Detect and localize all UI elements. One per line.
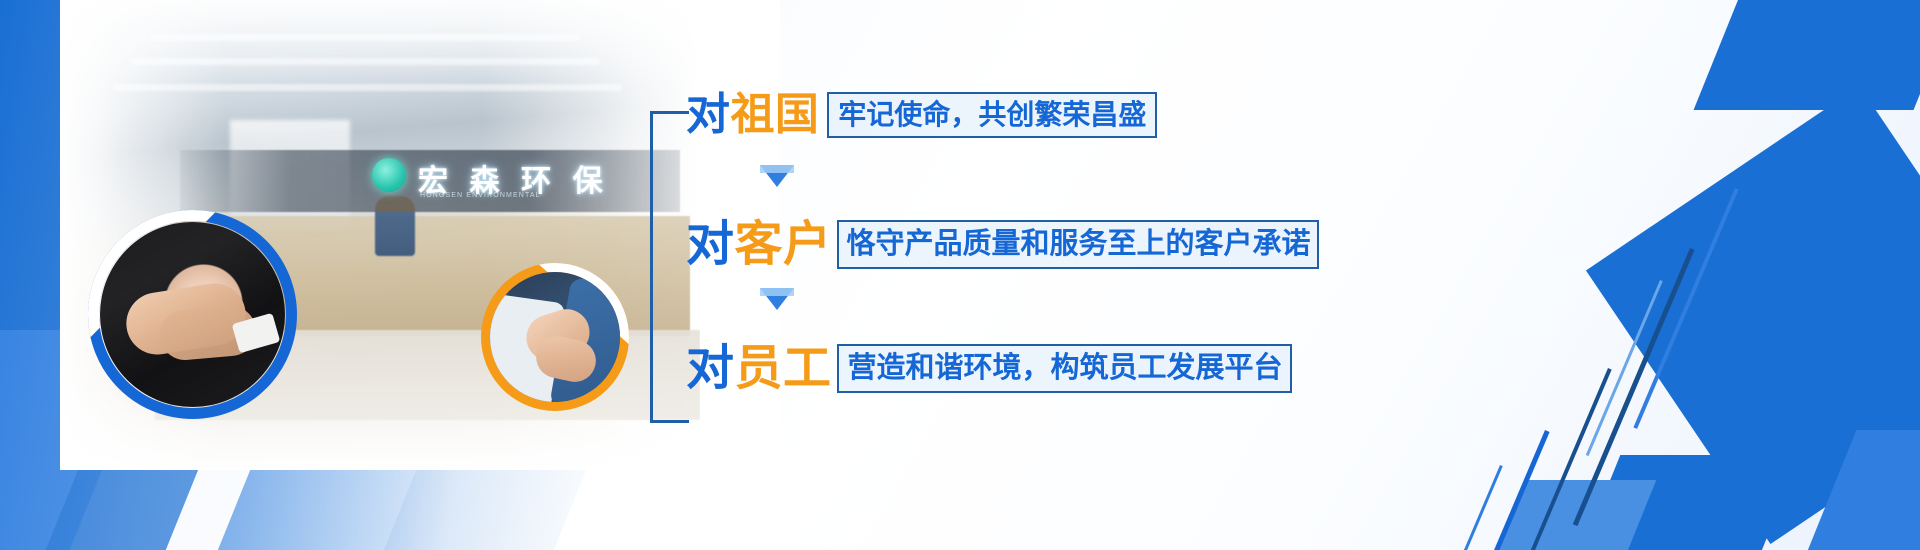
value-prefix-3: 对 xyxy=(686,342,734,395)
value-label-2: 对客户 xyxy=(686,221,831,269)
value-highlight-2: 客户 xyxy=(734,218,831,271)
value-statement-box-1: 牢记使命，共创繁荣昌盛 xyxy=(827,92,1157,138)
value-row-1: 对祖国 牢记使命，共创繁荣昌盛 xyxy=(686,92,1157,138)
applause-photo xyxy=(490,272,620,402)
value-prefix-2: 对 xyxy=(686,218,734,271)
value-statement-2: 恪守产品质量和服务至上的客户承诺 xyxy=(846,230,1310,259)
value-label-3: 对员工 xyxy=(686,345,831,393)
value-statement-3: 营造和谐环境，构筑员工发展平台 xyxy=(847,354,1282,383)
decor-parallelogram-right-2 xyxy=(1694,0,1920,110)
values-list: 对祖国 牢记使命，共创繁荣昌盛 对客户 恪守产品质量和服务至上的客户承诺 对员工… xyxy=(650,80,1350,470)
globe-leaf-icon xyxy=(372,158,406,192)
value-row-2: 对客户 恪守产品质量和服务至上的客户承诺 xyxy=(686,220,1319,269)
value-row-3: 对员工 营造和谐环境，构筑员工发展平台 xyxy=(686,344,1292,393)
value-statement-box-2: 恪守产品质量和服务至上的客户承诺 xyxy=(837,220,1319,269)
down-arrow-1 xyxy=(760,165,794,187)
value-highlight-3: 员工 xyxy=(734,342,831,395)
value-label-1: 对祖国 xyxy=(686,93,819,137)
value-highlight-1: 祖国 xyxy=(730,90,819,139)
decor-diagonal-line-6 xyxy=(1457,465,1503,550)
value-statement-1: 牢记使命，共创繁荣昌盛 xyxy=(838,101,1146,129)
bracket-connector xyxy=(650,111,689,423)
value-statement-box-3: 营造和谐环境，构筑员工发展平台 xyxy=(837,344,1292,393)
handshake-photo xyxy=(100,222,285,407)
logo-subtext: HONGSEN ENVIRONMENTAL xyxy=(420,192,541,199)
down-arrow-2 xyxy=(760,288,794,310)
company-values-banner: 宏 森 环 保 HONGSEN ENVIRONMENTAL 对祖国 牢记使命，共… xyxy=(0,0,1920,550)
value-prefix-1: 对 xyxy=(686,90,730,139)
